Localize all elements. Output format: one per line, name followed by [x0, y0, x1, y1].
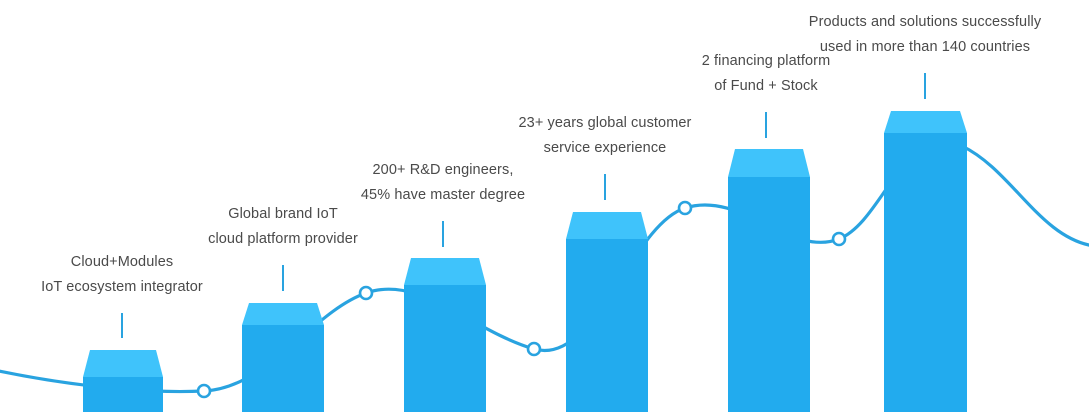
label-line-2: IoT ecosystem integrator: [22, 275, 222, 300]
wave-marker-point[interactable]: [528, 343, 540, 355]
label-rd-engineers: 200+ R&D engineers, 45% have master degr…: [333, 158, 553, 208]
label-line-1: 200+ R&D engineers,: [333, 158, 553, 183]
label-line-2: used in more than 140 countries: [775, 35, 1075, 60]
label-line-1: 23+ years global customer: [485, 111, 725, 136]
wave-marker-point[interactable]: [833, 233, 845, 245]
infographic-canvas: Cloud+Modules IoT ecosystem integrator G…: [0, 0, 1089, 412]
label-service-experience: 23+ years global customer service experi…: [485, 111, 725, 161]
label-global-brand-iot: Global brand IoT cloud platform provider: [183, 202, 383, 252]
label-countries: Products and solutions successfully used…: [775, 10, 1075, 60]
label-line-2: of Fund + Stock: [666, 74, 866, 99]
label-line-2: cloud platform provider: [183, 227, 383, 252]
wave-marker-point[interactable]: [360, 287, 372, 299]
label-line-2: service experience: [485, 136, 725, 161]
label-line-1: Products and solutions successfully: [775, 10, 1075, 35]
label-cloud-modules: Cloud+Modules IoT ecosystem integrator: [22, 250, 222, 300]
wave-marker-point[interactable]: [679, 202, 691, 214]
label-line-2: 45% have master degree: [333, 183, 553, 208]
label-line-1: Cloud+Modules: [22, 250, 222, 275]
wave-marker-point[interactable]: [198, 385, 210, 397]
